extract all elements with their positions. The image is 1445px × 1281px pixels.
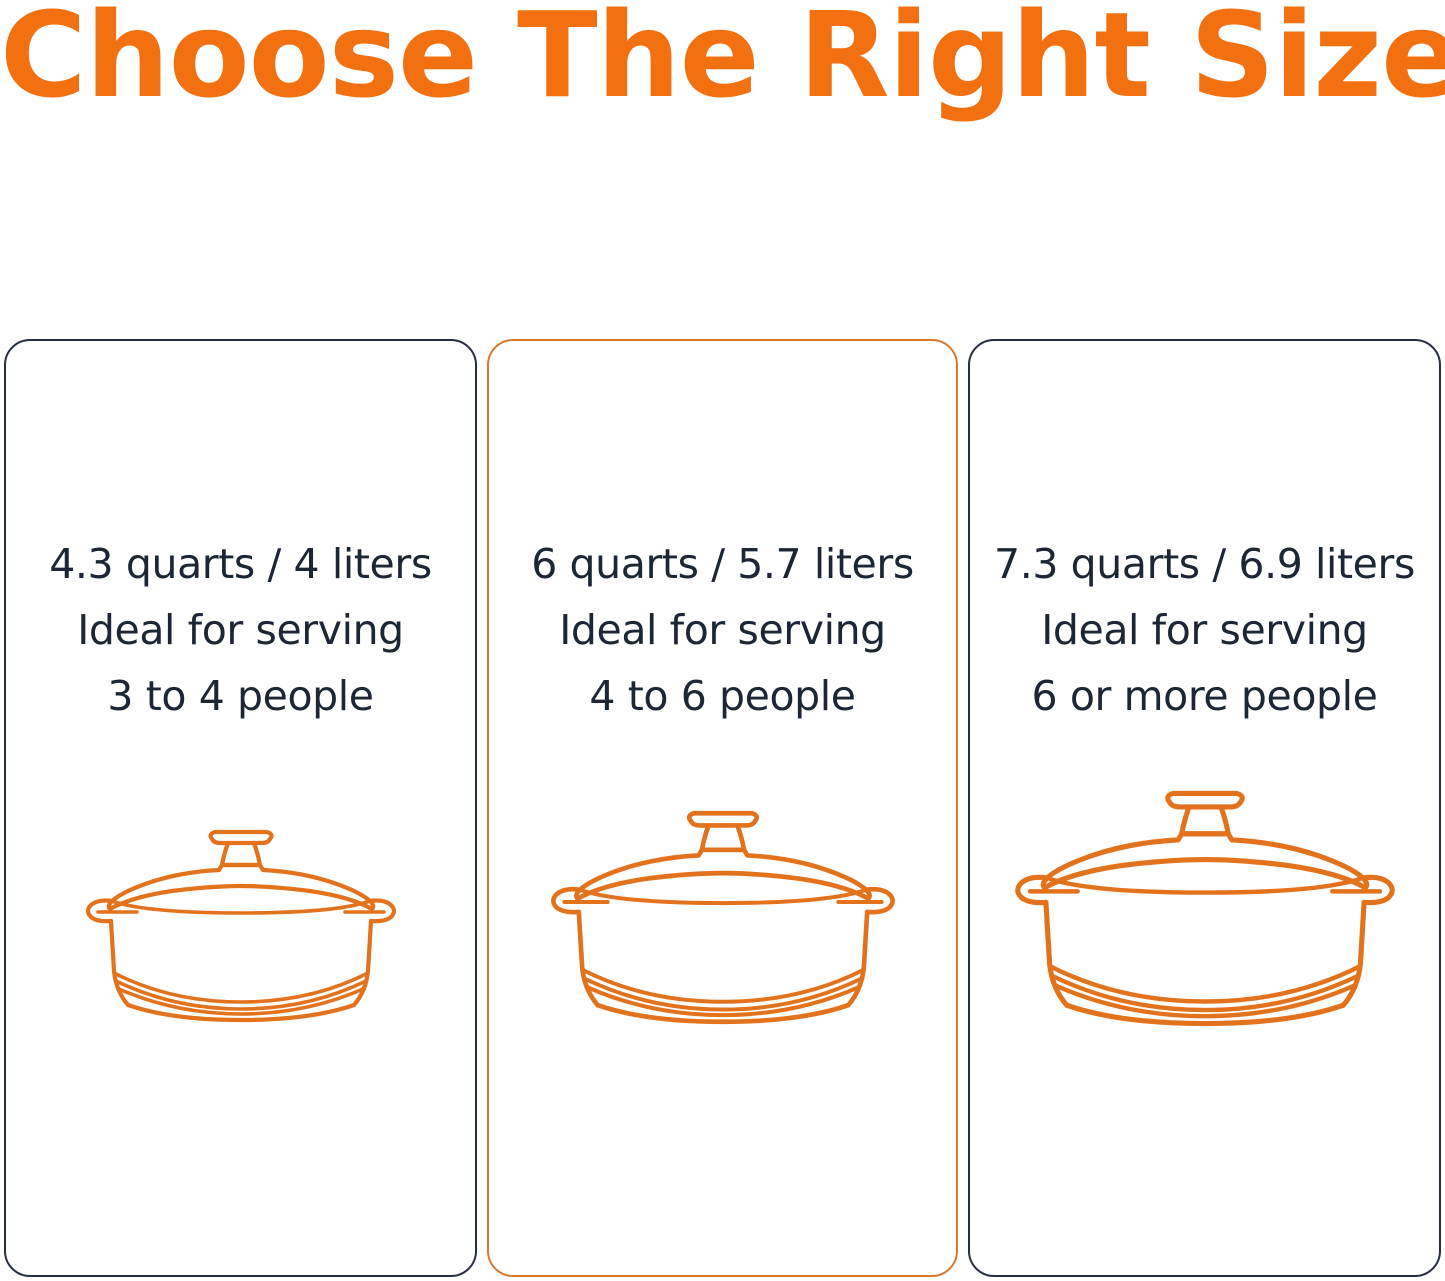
capacity-label: 7.3 quarts / 6.9 liters	[970, 531, 1439, 597]
page-title: Choose The Right Size	[0, 0, 1445, 124]
serving-count-label: 3 to 4 people	[6, 663, 475, 729]
size-card-small-text: 4.3 quarts / 4 liters Ideal for serving …	[6, 531, 475, 729]
size-card-large[interactable]: 7.3 quarts / 6.9 liters Ideal for servin…	[968, 339, 1441, 1277]
dutch-oven-pot-illustration	[6, 341, 475, 1275]
dutch-oven-pot-icon	[1003, 780, 1407, 1037]
serving-count-label: 6 or more people	[970, 663, 1439, 729]
capacity-label: 6 quarts / 5.7 liters	[489, 531, 956, 597]
serving-count-label: 4 to 6 people	[489, 663, 956, 729]
size-card-row: 4.3 quarts / 4 liters Ideal for serving …	[4, 339, 1441, 1277]
size-card-large-text: 7.3 quarts / 6.9 liters Ideal for servin…	[970, 531, 1439, 729]
dutch-oven-pot-icon	[540, 801, 906, 1034]
serving-label: Ideal for serving	[6, 597, 475, 663]
dutch-oven-pot-icon	[76, 821, 406, 1031]
size-guide-page: Choose The Right Size 4.3 quarts / 4 lit…	[0, 0, 1445, 1281]
dutch-oven-pot-illustration	[489, 341, 956, 1275]
dutch-oven-pot-illustration	[970, 341, 1439, 1275]
serving-label: Ideal for serving	[489, 597, 956, 663]
size-card-medium[interactable]: 6 quarts / 5.7 liters Ideal for serving …	[487, 339, 958, 1277]
capacity-label: 4.3 quarts / 4 liters	[6, 531, 475, 597]
serving-label: Ideal for serving	[970, 597, 1439, 663]
size-card-small[interactable]: 4.3 quarts / 4 liters Ideal for serving …	[4, 339, 477, 1277]
size-card-medium-text: 6 quarts / 5.7 liters Ideal for serving …	[489, 531, 956, 729]
